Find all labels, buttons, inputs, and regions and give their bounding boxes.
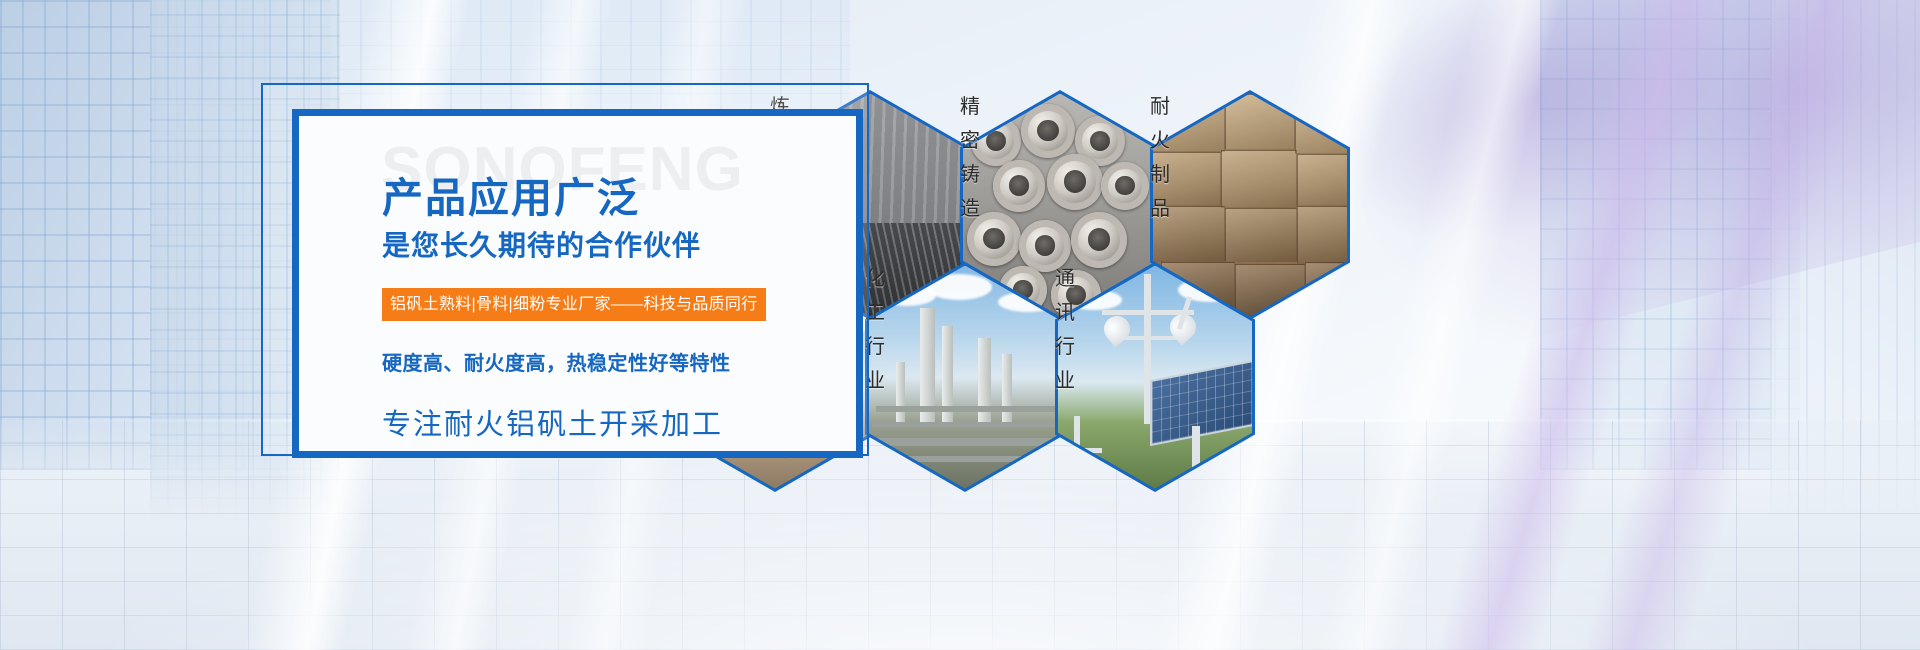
feature-line: 硬度高、耐火度高，热稳定性好等特性: [382, 347, 731, 376]
orange-highlight-strip: 铝矾土熟料|骨料|细粉专业厂家——科技与品质同行: [382, 288, 766, 321]
tagline: 专注耐火铝矾土开采加工: [382, 401, 723, 443]
headline-primary: 产品应用广泛: [382, 164, 640, 224]
hero-text-card: SONOFENG 产品应用广泛 是您长久期待的合作伙伴 铝矾土熟料|骨料|细粉专…: [292, 109, 863, 458]
headline-secondary: 是您长久期待的合作伙伴: [382, 224, 701, 264]
hero-banner: 炼铝工业 精密铸造: [0, 0, 1920, 650]
hero-text-card-outline: SONOFENG 产品应用广泛 是您长久期待的合作伙伴 铝矾土熟料|骨料|细粉专…: [261, 83, 869, 456]
